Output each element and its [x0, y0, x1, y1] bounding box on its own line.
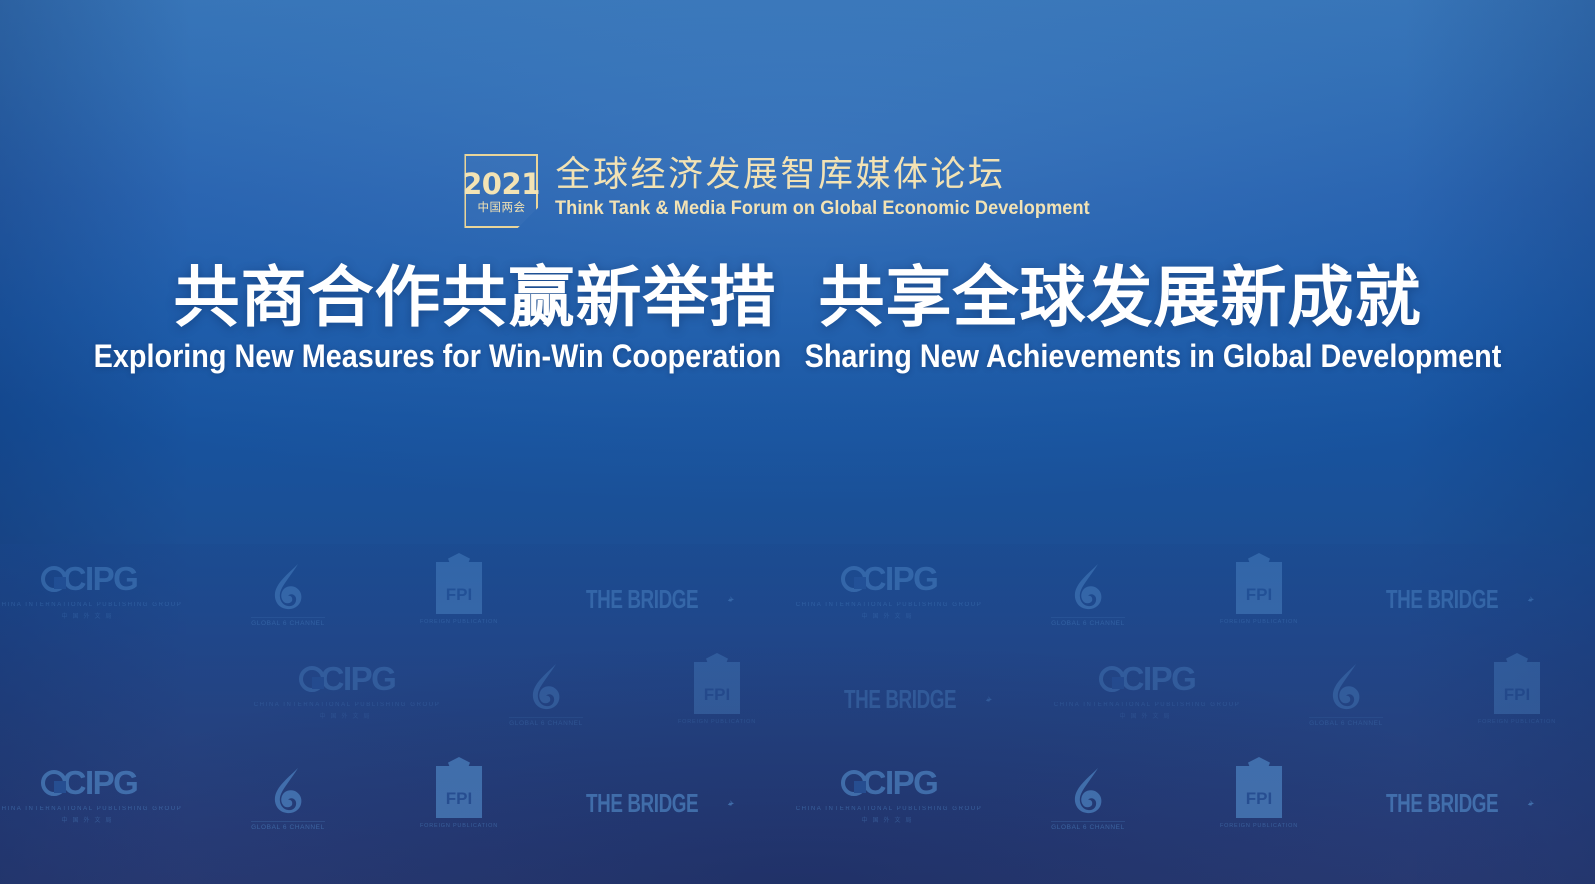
global-six-sub: GLOBAL 6 CHANNEL [251, 821, 325, 831]
year-badge-year: 2021 [462, 170, 541, 199]
global-six-logo: GLOBAL 6 CHANNEL [244, 562, 332, 636]
global-six-logo: GLOBAL 6 CHANNEL [244, 766, 332, 840]
logo-wall-haze [0, 544, 1595, 884]
slogan-en-line: Exploring New Measures for Win-Win Coope… [80, 339, 1516, 375]
cipg-sub-cn: 中国外文局 [861, 611, 916, 620]
sponsor-logo-row: CIPG CHINA INTERNATIONAL PUBLISHING GROU… [30, 766, 1595, 840]
slogan-en-right: Sharing New Achievements in Global Devel… [805, 338, 1502, 374]
fpi-sub: FOREIGN PUBLICATION [1220, 823, 1298, 829]
cipg-sub-cn: 中国外文局 [861, 815, 916, 824]
bridge-emblem-icon [727, 585, 734, 613]
bridge-emblem-icon [1527, 585, 1534, 613]
bridge-emblem-icon [1527, 789, 1534, 817]
fpi-logo: FPI FOREIGN PUBLICATION [1228, 766, 1290, 840]
the-bridge-logo: THE BRIDGE [586, 766, 734, 840]
cipg-c-ring-icon [41, 770, 67, 796]
slogan-cn-right: 共享全球发展新成就 [819, 259, 1422, 336]
cipg-sub-cn: 中国外文局 [61, 815, 116, 824]
six-swirl-icon [1068, 562, 1108, 612]
cipg-wordmark: CIPG [1099, 662, 1196, 695]
global-six-sub: GLOBAL 6 CHANNEL [1051, 617, 1125, 627]
fpi-plate-icon: FPI [436, 766, 482, 818]
cipg-c-ring-icon [1099, 666, 1125, 692]
cipg-letters: CIPG [863, 562, 938, 595]
cipg-sub-cn: 中国外文局 [61, 611, 116, 620]
fpi-sub: FOREIGN PUBLICATION [1478, 719, 1556, 725]
fpi-logo: FPI FOREIGN PUBLICATION [1486, 662, 1548, 736]
cipg-c-ring-icon [299, 666, 325, 692]
slogan-cn-left: 共商合作共赢新举措 [174, 259, 777, 336]
six-swirl-icon [268, 562, 308, 612]
forum-title-en: Think Tank & Media Forum on Global Econo… [555, 198, 1090, 219]
year-badge: 2021 中国两会 [464, 154, 538, 228]
cipg-sub-cn: 中国外文局 [1119, 711, 1174, 720]
six-swirl-icon [1068, 766, 1108, 816]
fpi-plate-icon: FPI [1236, 562, 1282, 614]
event-logo-lockup: 2021 中国两会 全球经济发展智库媒体论坛 Think Tank & Medi… [0, 154, 1595, 228]
fpi-plate-icon: FPI [436, 562, 482, 614]
fpi-logo: FPI FOREIGN PUBLICATION [1228, 562, 1290, 636]
fpi-logo: FPI FOREIGN PUBLICATION [428, 562, 490, 636]
cipg-sub-en: CHINA INTERNATIONAL PUBLISHING GROUP [254, 702, 441, 708]
cipg-logo: CIPG CHINA INTERNATIONAL PUBLISHING GROU… [30, 766, 148, 840]
fpi-letters: FPI [446, 585, 472, 605]
sponsor-logo-wall: CIPG CHINA INTERNATIONAL PUBLISHING GROU… [0, 544, 1595, 884]
cipg-logo: CIPG CHINA INTERNATIONAL PUBLISHING GROU… [830, 562, 948, 636]
fpi-sub: FOREIGN PUBLICATION [420, 823, 498, 829]
year-badge-caption: 中国两会 [477, 202, 525, 214]
fpi-letters: FPI [446, 789, 472, 809]
fpi-letters: FPI [1246, 585, 1272, 605]
cipg-logo: CIPG CHINA INTERNATIONAL PUBLISHING GROU… [830, 766, 948, 840]
cipg-sub-en: CHINA INTERNATIONAL PUBLISHING GROUP [796, 602, 983, 608]
cipg-letters: CIPG [1121, 662, 1196, 695]
cipg-letters: CIPG [63, 562, 138, 595]
cipg-wordmark: CIPG [41, 562, 138, 595]
the-bridge-logo: THE BRIDGE [844, 662, 992, 736]
global-six-sub: GLOBAL 6 CHANNEL [1051, 821, 1125, 831]
sponsor-logo-row: CIPG CHINA INTERNATIONAL PUBLISHING GROU… [288, 662, 1595, 736]
cipg-sub-en: CHINA INTERNATIONAL PUBLISHING GROUP [0, 806, 182, 812]
global-six-logo: GLOBAL 6 CHANNEL [1044, 562, 1132, 636]
bridge-emblem-icon [985, 685, 992, 713]
background-bloom-overlay [0, 0, 1595, 884]
cipg-sub-en: CHINA INTERNATIONAL PUBLISHING GROUP [796, 806, 983, 812]
cipg-logo: CIPG CHINA INTERNATIONAL PUBLISHING GROU… [30, 562, 148, 636]
fpi-sub: FOREIGN PUBLICATION [420, 619, 498, 625]
cipg-wordmark: CIPG [299, 662, 396, 695]
global-six-logo: GLOBAL 6 CHANNEL [502, 662, 590, 736]
the-bridge-wordmark: THE BRIDGE [1386, 788, 1498, 818]
fpi-plate-icon: FPI [1236, 766, 1282, 818]
global-six-sub: GLOBAL 6 CHANNEL [251, 617, 325, 627]
six-swirl-icon [526, 662, 566, 712]
cipg-c-ring-icon [841, 770, 867, 796]
forum-backdrop-stage: CIPG CHINA INTERNATIONAL PUBLISHING GROU… [0, 0, 1595, 884]
slogan-en-left: Exploring New Measures for Win-Win Coope… [94, 338, 782, 374]
cipg-wordmark: CIPG [841, 562, 938, 595]
the-bridge-wordmark: THE BRIDGE [1386, 584, 1498, 614]
fpi-plate-icon: FPI [1494, 662, 1540, 714]
the-bridge-logo: THE BRIDGE [586, 562, 734, 636]
the-bridge-wordmark: THE BRIDGE [586, 584, 698, 614]
cipg-wordmark: CIPG [41, 766, 138, 799]
fpi-sub: FOREIGN PUBLICATION [1220, 619, 1298, 625]
fpi-sub: FOREIGN PUBLICATION [678, 719, 756, 725]
cipg-logo: CIPG CHINA INTERNATIONAL PUBLISHING GROU… [1088, 662, 1206, 736]
the-bridge-wordmark: THE BRIDGE [844, 684, 956, 714]
the-bridge-logo: THE BRIDGE [1386, 766, 1534, 840]
fpi-plate-icon: FPI [694, 662, 740, 714]
cipg-c-ring-icon [841, 566, 867, 592]
slogan-cn-line: 共商合作共赢新举措共享全球发展新成就 [0, 262, 1595, 333]
the-bridge-logo: THE BRIDGE [1386, 562, 1534, 636]
cipg-wordmark: CIPG [841, 766, 938, 799]
the-bridge-wordmark: THE BRIDGE [586, 788, 698, 818]
fpi-letters: FPI [1504, 685, 1530, 705]
cipg-logo: CIPG CHINA INTERNATIONAL PUBLISHING GROU… [288, 662, 406, 736]
cipg-letters: CIPG [321, 662, 396, 695]
global-six-logo: GLOBAL 6 CHANNEL [1302, 662, 1390, 736]
sponsor-logo-row: CIPG CHINA INTERNATIONAL PUBLISHING GROU… [30, 562, 1595, 636]
cipg-letters: CIPG [863, 766, 938, 799]
fpi-logo: FPI FOREIGN PUBLICATION [428, 766, 490, 840]
bridge-emblem-icon [727, 789, 734, 817]
background-edge-vignette [0, 0, 1595, 884]
cipg-sub-en: CHINA INTERNATIONAL PUBLISHING GROUP [1054, 702, 1241, 708]
slogan-block: 共商合作共赢新举措共享全球发展新成就 Exploring New Measure… [0, 262, 1595, 375]
six-swirl-icon [268, 766, 308, 816]
cipg-letters: CIPG [63, 766, 138, 799]
cipg-sub-en: CHINA INTERNATIONAL PUBLISHING GROUP [0, 602, 182, 608]
forum-title-cn: 全球经济发展智库媒体论坛 [555, 156, 1130, 195]
cipg-c-ring-icon [41, 566, 67, 592]
six-swirl-icon [1326, 662, 1366, 712]
fpi-letters: FPI [704, 685, 730, 705]
cipg-sub-cn: 中国外文局 [319, 711, 374, 720]
global-six-logo: GLOBAL 6 CHANNEL [1044, 766, 1132, 840]
forum-title-block: 全球经济发展智库媒体论坛 Think Tank & Media Forum on… [555, 154, 1130, 220]
fpi-letters: FPI [1246, 789, 1272, 809]
global-six-sub: GLOBAL 6 CHANNEL [1309, 717, 1383, 727]
fpi-logo: FPI FOREIGN PUBLICATION [686, 662, 748, 736]
global-six-sub: GLOBAL 6 CHANNEL [509, 717, 583, 727]
